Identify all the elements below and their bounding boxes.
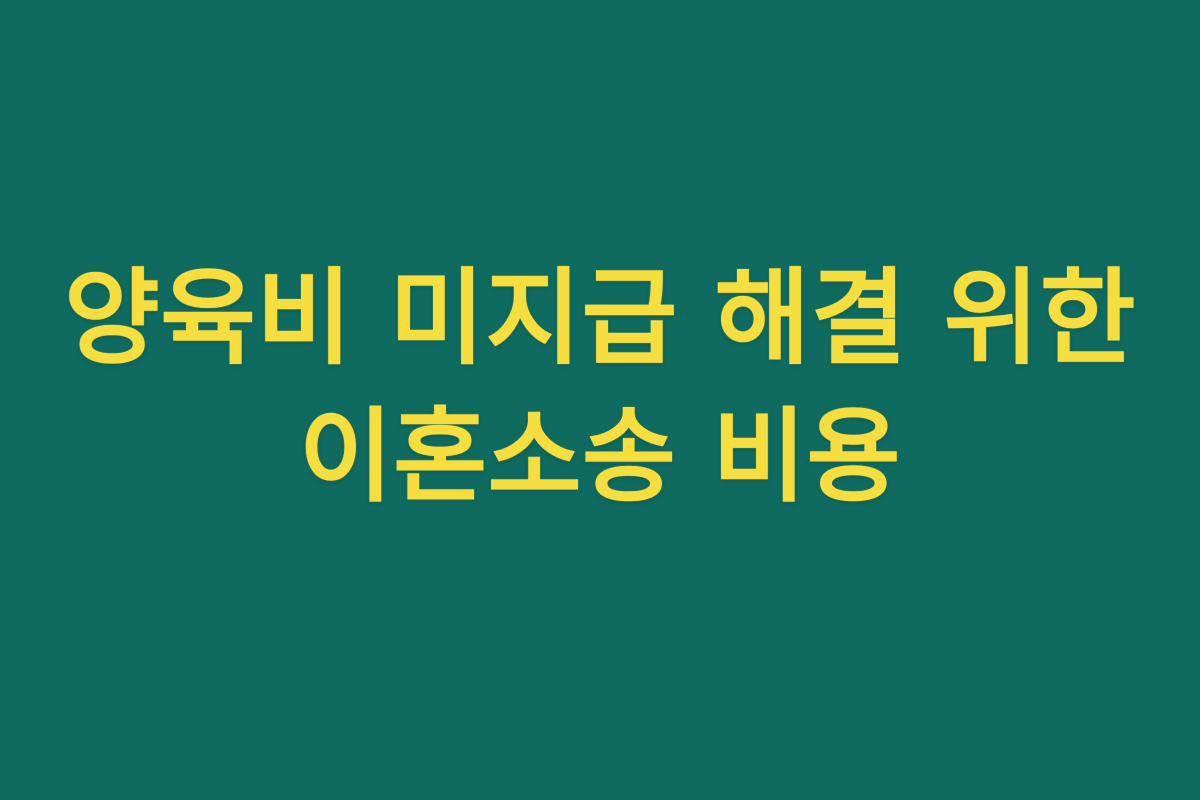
- title-line-2: 이혼소송 비용: [0, 388, 1200, 528]
- title-card-banner: 양육비 미지급 해결 위한 이혼소송 비용: [0, 0, 1200, 800]
- title-line-1: 양육비 미지급 해결 위한: [0, 248, 1200, 388]
- title-text-block: 양육비 미지급 해결 위한 이혼소송 비용: [0, 248, 1200, 528]
